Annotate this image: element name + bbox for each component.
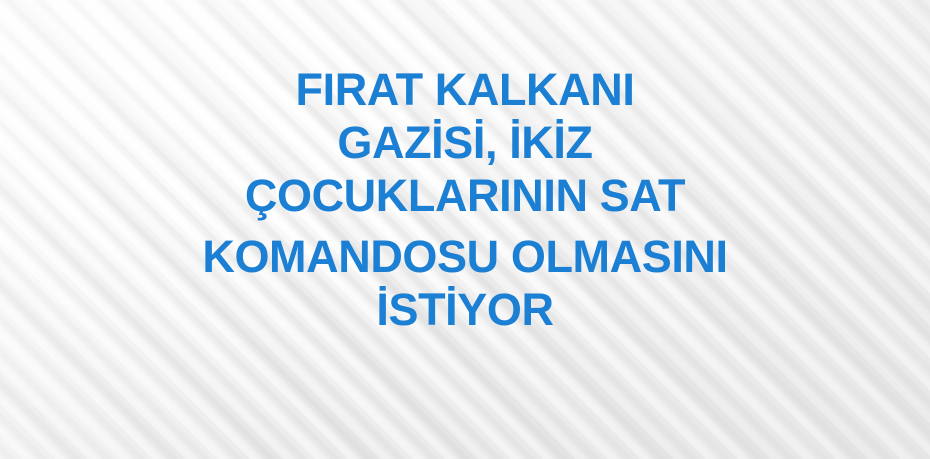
headline-line-2: GAZİSİ, İKİZ xyxy=(0,116,930,169)
headline-block: FIRAT KALKANI GAZİSİ, İKİZ ÇOCUKLARININ … xyxy=(0,0,930,459)
news-thumbnail-card: FIRAT KALKANI GAZİSİ, İKİZ ÇOCUKLARININ … xyxy=(0,0,930,459)
headline-line-1: FIRAT KALKANI xyxy=(0,63,930,116)
headline-paragraph-1: FIRAT KALKANI GAZİSİ, İKİZ ÇOCUKLARININ … xyxy=(0,63,930,222)
headline-paragraph-2: KOMANDOSU OLMASINI İSTİYOR xyxy=(0,230,930,336)
headline-line-3: ÇOCUKLARININ SAT xyxy=(0,169,930,222)
headline-line-4: KOMANDOSU OLMASINI xyxy=(0,230,930,283)
headline-line-5: İSTİYOR xyxy=(0,283,930,336)
